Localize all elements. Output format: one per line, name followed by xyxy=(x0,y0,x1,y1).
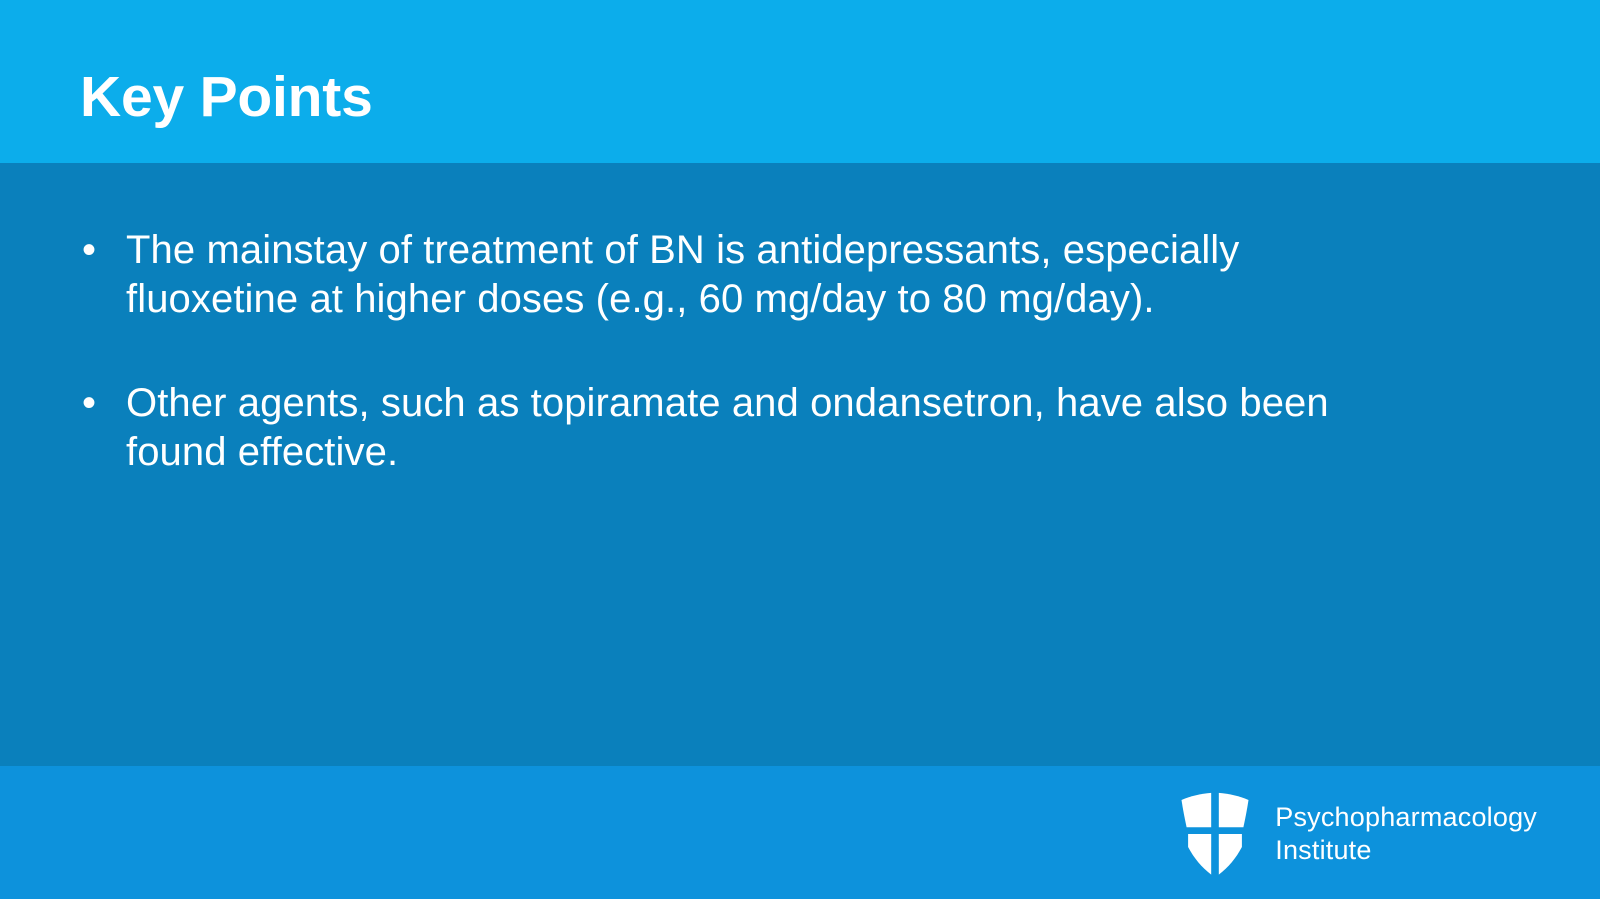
brand-name-line-2: Institute xyxy=(1275,834,1537,867)
brand-logo: Psychopharmacology Institute xyxy=(1177,791,1537,877)
slide: Key Points • The mainstay of treatment o… xyxy=(0,0,1600,899)
slide-footer-band: Psychopharmacology Institute xyxy=(0,766,1600,899)
bullet-list: • The mainstay of treatment of BN is ant… xyxy=(76,226,1476,477)
slide-body: • The mainstay of treatment of BN is ant… xyxy=(0,163,1600,766)
bullet-item: • The mainstay of treatment of BN is ant… xyxy=(76,226,1476,324)
bullet-text: The mainstay of treatment of BN is antid… xyxy=(126,226,1316,324)
brand-wordmark: Psychopharmacology Institute xyxy=(1275,801,1537,867)
shield-quadrant-cross-icon xyxy=(1177,791,1253,877)
slide-title: Key Points xyxy=(80,69,373,126)
brand-name-line-1: Psychopharmacology xyxy=(1275,801,1537,834)
bullet-text: Other agents, such as topiramate and ond… xyxy=(126,379,1411,477)
slide-header-band: Key Points xyxy=(0,0,1600,163)
bullet-marker-icon: • xyxy=(82,226,104,275)
bullet-marker-icon: • xyxy=(82,379,104,428)
bullet-item: • Other agents, such as topiramate and o… xyxy=(76,379,1476,477)
